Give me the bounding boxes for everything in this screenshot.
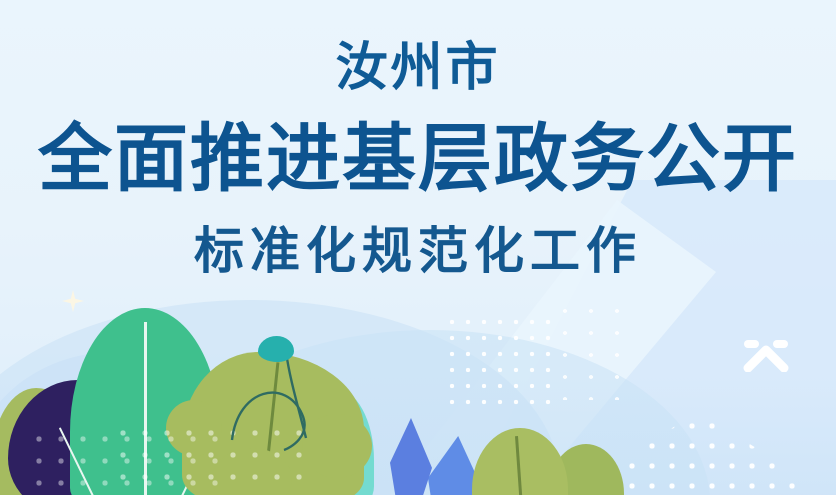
leaf-vein-olive-right xyxy=(515,436,524,495)
leaf-vein-center xyxy=(144,322,147,495)
page-title-headline: 全面推进基层政务公开 xyxy=(0,122,836,196)
title-block: 汝州市 全面推进基层政务公开 标准化规范化工作 xyxy=(0,0,836,276)
poster-banner: 汝州市 全面推进基层政务公开 标准化规范化工作 xyxy=(0,0,836,495)
chevron-up-icon xyxy=(742,338,790,372)
vine-bud-upper xyxy=(258,336,294,362)
page-title-city: 汝州市 xyxy=(0,42,836,94)
oak-lobe-c xyxy=(212,448,292,495)
vine-stem xyxy=(228,322,378,452)
page-title-subline: 标准化规范化工作 xyxy=(0,226,836,276)
oak-lobe-a xyxy=(166,400,222,456)
